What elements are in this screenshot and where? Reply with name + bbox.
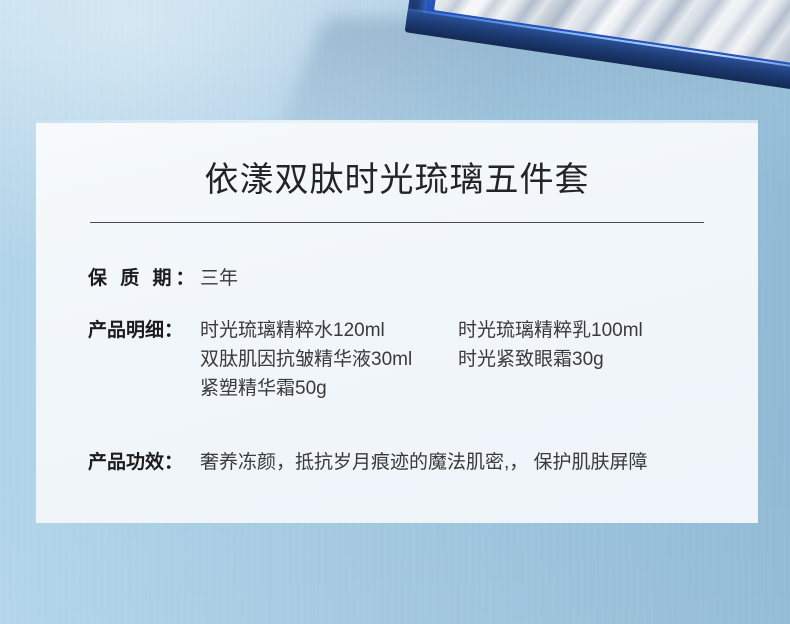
detail-item: 紧塑精华霜50g	[200, 374, 458, 403]
spec-list: 保 质 期： 三年 产品明细： 时光琉璃精粹水120ml 时光琉璃精粹乳100m…	[88, 264, 738, 478]
detail-line: 时光琉璃精粹水120ml 时光琉璃精粹乳100ml	[200, 316, 738, 345]
detail-item: 时光琉璃精粹水120ml	[200, 316, 458, 345]
spec-label-shelf-life: 保 质 期：	[88, 264, 200, 294]
card-top-edge	[36, 120, 758, 123]
spec-value-product-efficacy: 奢养冻颜，抵抗岁月痕迹的魔法肌密,， 保护肌肤屏障	[200, 448, 738, 478]
detail-line: 双肽肌因抗皱精华液30ml 时光紧致眼霜30g	[200, 345, 738, 374]
product-info-page: 依漾双肽时光琉璃五件套 保 质 期： 三年 产品明细： 时光琉璃精粹水120ml…	[0, 0, 790, 624]
spec-value-shelf-life: 三年	[200, 264, 738, 294]
detail-line: 紧塑精华霜50g	[200, 374, 738, 403]
product-info-card: 依漾双肽时光琉璃五件套 保 质 期： 三年 产品明细： 时光琉璃精粹水120ml…	[36, 120, 758, 523]
spec-label-product-efficacy: 产品功效：	[88, 448, 200, 478]
title-divider	[90, 222, 704, 223]
detail-item: 时光紧致眼霜30g	[458, 345, 604, 374]
detail-item: 时光琉璃精粹乳100ml	[458, 316, 643, 345]
spec-row-product-efficacy: 产品功效： 奢养冻颜，抵抗岁月痕迹的魔法肌密,， 保护肌肤屏障	[88, 448, 738, 478]
detail-item: 双肽肌因抗皱精华液30ml	[200, 345, 458, 374]
spec-row-shelf-life: 保 质 期： 三年	[88, 264, 738, 294]
spec-label-product-details: 产品明细：	[88, 316, 200, 346]
spec-row-product-details: 产品明细： 时光琉璃精粹水120ml 时光琉璃精粹乳100ml 双肽肌因抗皱精华…	[88, 316, 738, 403]
spec-value-product-details: 时光琉璃精粹水120ml 时光琉璃精粹乳100ml 双肽肌因抗皱精华液30ml …	[200, 316, 738, 403]
page-title: 依漾双肽时光琉璃五件套	[36, 160, 758, 200]
